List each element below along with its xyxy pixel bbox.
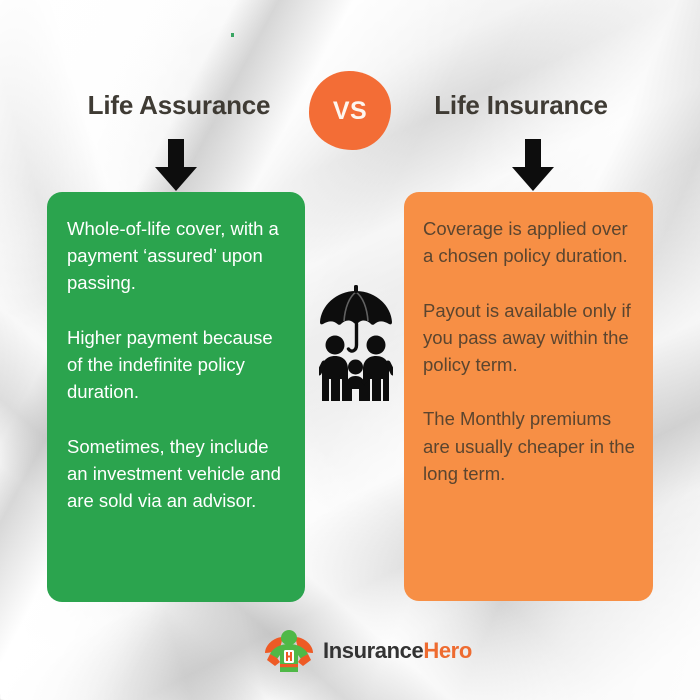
panel-life-assurance: Whole-of-life cover, with a payment ‘ass… bbox=[47, 192, 305, 602]
panel-life-insurance: Coverage is applied over a chosen policy… bbox=[404, 192, 653, 601]
logo-word-hero: Hero bbox=[423, 638, 472, 663]
top-dotted-rule bbox=[231, 33, 469, 37]
insurance-point-1: Coverage is applied over a chosen policy… bbox=[423, 215, 639, 269]
logo-wordmark: InsuranceHero bbox=[323, 638, 472, 664]
vs-label: VS bbox=[333, 99, 367, 124]
assurance-point-1: Whole-of-life cover, with a payment ‘ass… bbox=[67, 215, 285, 297]
infographic-canvas: Life Assurance Life Insurance VS Whole-o… bbox=[0, 0, 700, 700]
down-arrow-icon-right bbox=[510, 139, 556, 191]
assurance-point-2: Higher payment because of the indefinite… bbox=[67, 324, 285, 406]
heading-life-assurance: Life Assurance bbox=[0, 90, 358, 121]
vs-badge: VS bbox=[309, 71, 391, 150]
assurance-point-3: Sometimes, they include an investment ve… bbox=[67, 433, 285, 515]
logo-word-insurance: Insurance bbox=[323, 638, 423, 663]
down-arrow-icon-left bbox=[153, 139, 199, 191]
umbrella-family-icon bbox=[319, 283, 393, 401]
superhero-icon bbox=[264, 629, 314, 673]
insurance-point-2: Payout is available only if you pass awa… bbox=[423, 297, 639, 379]
insurance-hero-logo: InsuranceHero bbox=[264, 627, 449, 675]
heading-life-insurance: Life Insurance bbox=[342, 90, 700, 121]
insurance-point-3: The Monthly premiums are usually cheaper… bbox=[423, 405, 639, 487]
